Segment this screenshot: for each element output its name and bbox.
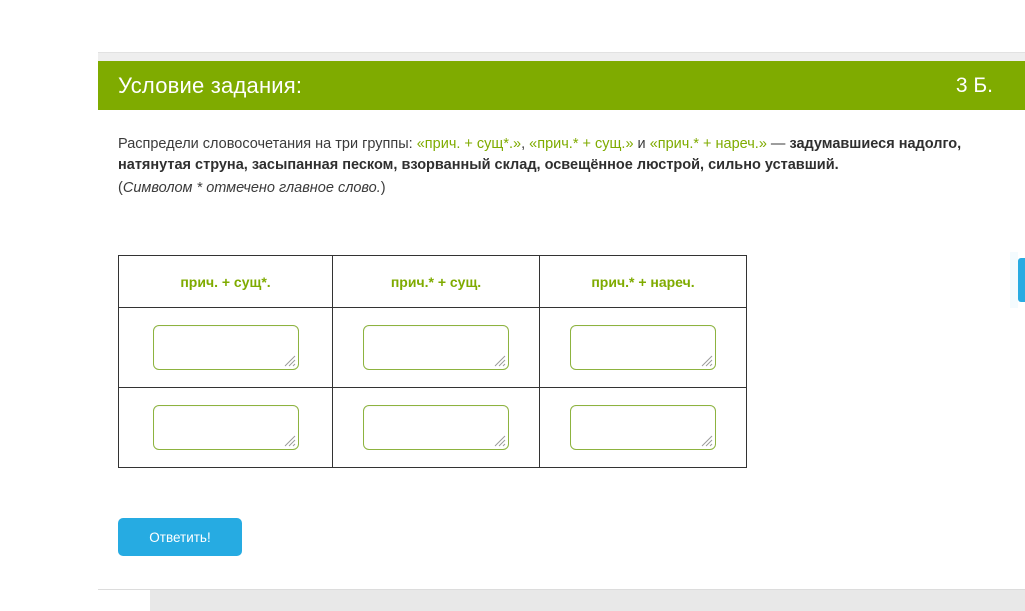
note-text: Символом * отмечено главное слово. bbox=[123, 180, 381, 196]
answer-table-head: прич. + сущ*. прич.* + сущ. прич.* + нар… bbox=[119, 256, 747, 308]
column-header-2: прич.* + сущ. bbox=[333, 256, 540, 308]
answer-input-r2c2[interactable] bbox=[363, 405, 509, 450]
task-dash: — bbox=[767, 136, 790, 152]
page-title: Условие задания: bbox=[118, 75, 302, 97]
resize-grip-icon bbox=[493, 434, 506, 447]
answer-input-r1c2[interactable] bbox=[363, 325, 509, 370]
group-label-3: «прич.* + нареч.» bbox=[650, 136, 767, 152]
table-header-row: прич. + сущ*. прич.* + сущ. прич.* + нар… bbox=[119, 256, 747, 308]
task-description: Распредели словосочетания на три группы:… bbox=[118, 134, 998, 176]
column-header-1: прич. + сущ*. bbox=[119, 256, 333, 308]
footer-strip bbox=[150, 590, 1025, 611]
answer-cell-r2c1 bbox=[119, 388, 333, 468]
resize-grip-icon bbox=[700, 354, 713, 367]
task-separator-2: и bbox=[634, 136, 650, 152]
answer-table-body bbox=[119, 308, 747, 468]
answer-cell-r1c3 bbox=[540, 308, 747, 388]
group-label-2: «прич.* + сущ.» bbox=[529, 136, 633, 152]
card-top-strip bbox=[98, 52, 1025, 61]
answer-cell-r1c1 bbox=[119, 308, 333, 388]
resize-grip-icon bbox=[283, 354, 296, 367]
table-row bbox=[119, 308, 747, 388]
task-statement: Распредели словосочетания на три группы:… bbox=[118, 134, 998, 199]
points-badge: 3 Б. bbox=[956, 75, 993, 96]
submit-answer-button[interactable]: Ответить! bbox=[118, 518, 242, 556]
resize-grip-icon bbox=[493, 354, 506, 367]
side-panel-tab[interactable] bbox=[1018, 258, 1025, 302]
task-header-bar: Условие задания: 3 Б. bbox=[98, 61, 1025, 110]
column-header-3: прич.* + нареч. bbox=[540, 256, 747, 308]
answer-input-r1c3[interactable] bbox=[570, 325, 716, 370]
resize-grip-icon bbox=[283, 434, 296, 447]
answer-input-r1c1[interactable] bbox=[153, 325, 299, 370]
task-card: Условие задания: 3 Б. Распредели словосо… bbox=[98, 52, 1025, 590]
answer-table: прич. + сущ*. прич.* + сущ. прич.* + нар… bbox=[118, 255, 747, 468]
answer-cell-r2c3 bbox=[540, 388, 747, 468]
answer-cell-r2c2 bbox=[333, 388, 540, 468]
answer-input-r2c1[interactable] bbox=[153, 405, 299, 450]
group-label-1: «прич. + сущ*.» bbox=[417, 136, 521, 152]
answer-cell-r1c2 bbox=[333, 308, 540, 388]
resize-grip-icon bbox=[700, 434, 713, 447]
task-separator-1: , bbox=[521, 136, 529, 152]
task-note: (Символом * отмечено главное слово.) bbox=[118, 178, 998, 199]
table-row bbox=[119, 388, 747, 468]
task-intro-text: Распредели словосочетания на три группы: bbox=[118, 136, 417, 152]
answer-input-r2c3[interactable] bbox=[570, 405, 716, 450]
side-tab-background bbox=[1010, 252, 1018, 308]
note-paren-close: ) bbox=[381, 180, 386, 196]
